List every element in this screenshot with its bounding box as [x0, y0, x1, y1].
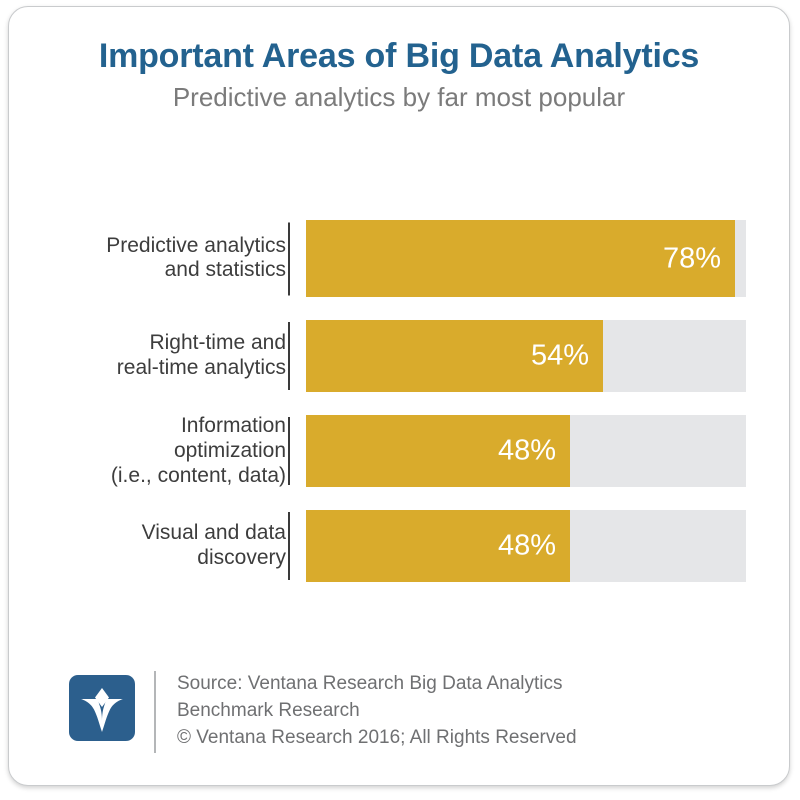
- bar-value-label: 54%: [531, 342, 589, 371]
- category-label: Right-time and real-time analytics: [26, 331, 286, 381]
- chart-subtitle: Predictive analytics by far most popular: [9, 82, 789, 113]
- chart-footer: Source: Ventana Research Big Data Analyt…: [9, 671, 790, 763]
- source-attribution: Source: Ventana Research Big Data Analyt…: [177, 671, 697, 752]
- category-label-line: Right-time and: [26, 331, 286, 356]
- axis-tick-mark: [288, 222, 290, 295]
- bar-fill: 48%: [306, 510, 570, 582]
- category-label-line: Visual and data: [26, 521, 286, 546]
- bar-row: Predictive analytics and statistics 78%: [9, 220, 790, 297]
- copyright-line: © Ventana Research 2016; All Rights Rese…: [177, 725, 697, 752]
- bar-row: Visual and data discovery 48%: [9, 510, 790, 582]
- bar-fill: 54%: [306, 320, 603, 392]
- ventana-v-logo-icon: [69, 675, 135, 741]
- bar-value-label: 78%: [663, 244, 721, 273]
- axis-tick-mark: [288, 512, 290, 580]
- axis-tick-mark: [288, 417, 290, 485]
- category-label: Predictive analytics and statistics: [26, 234, 286, 284]
- category-label-line: discovery: [26, 546, 286, 571]
- chart-card: Important Areas of Big Data Analytics Pr…: [8, 6, 790, 786]
- bar-track: 48%: [306, 415, 746, 487]
- category-label-line: real-time analytics: [26, 356, 286, 381]
- bar-chart-plot-area: Predictive analytics and statistics 78% …: [9, 212, 790, 602]
- bar-fill: 48%: [306, 415, 570, 487]
- source-line: Benchmark Research: [177, 698, 697, 725]
- category-label-line: (i.e., content, data): [26, 463, 286, 488]
- bar-track: 54%: [306, 320, 746, 392]
- category-label: Information optimization (i.e., content,…: [26, 414, 286, 488]
- source-line: Source: Ventana Research Big Data Analyt…: [177, 671, 697, 698]
- bar-row: Right-time and real-time analytics 54%: [9, 320, 790, 392]
- bar-value-label: 48%: [498, 437, 556, 466]
- axis-tick-mark: [288, 322, 290, 390]
- footer-divider: [154, 671, 156, 753]
- page-title: Important Areas of Big Data Analytics: [9, 37, 789, 76]
- chart-header: Important Areas of Big Data Analytics Pr…: [9, 37, 789, 113]
- category-label-line: Information: [26, 414, 286, 439]
- bar-track: 48%: [306, 510, 746, 582]
- bar-fill: 78%: [306, 220, 735, 297]
- category-label-line: optimization: [26, 439, 286, 464]
- bar-value-label: 48%: [498, 532, 556, 561]
- category-label: Visual and data discovery: [26, 521, 286, 571]
- category-label-line: Predictive analytics: [26, 234, 286, 259]
- category-label-line: and statistics: [26, 259, 286, 284]
- bar-row: Information optimization (i.e., content,…: [9, 415, 790, 487]
- bar-track: 78%: [306, 220, 746, 297]
